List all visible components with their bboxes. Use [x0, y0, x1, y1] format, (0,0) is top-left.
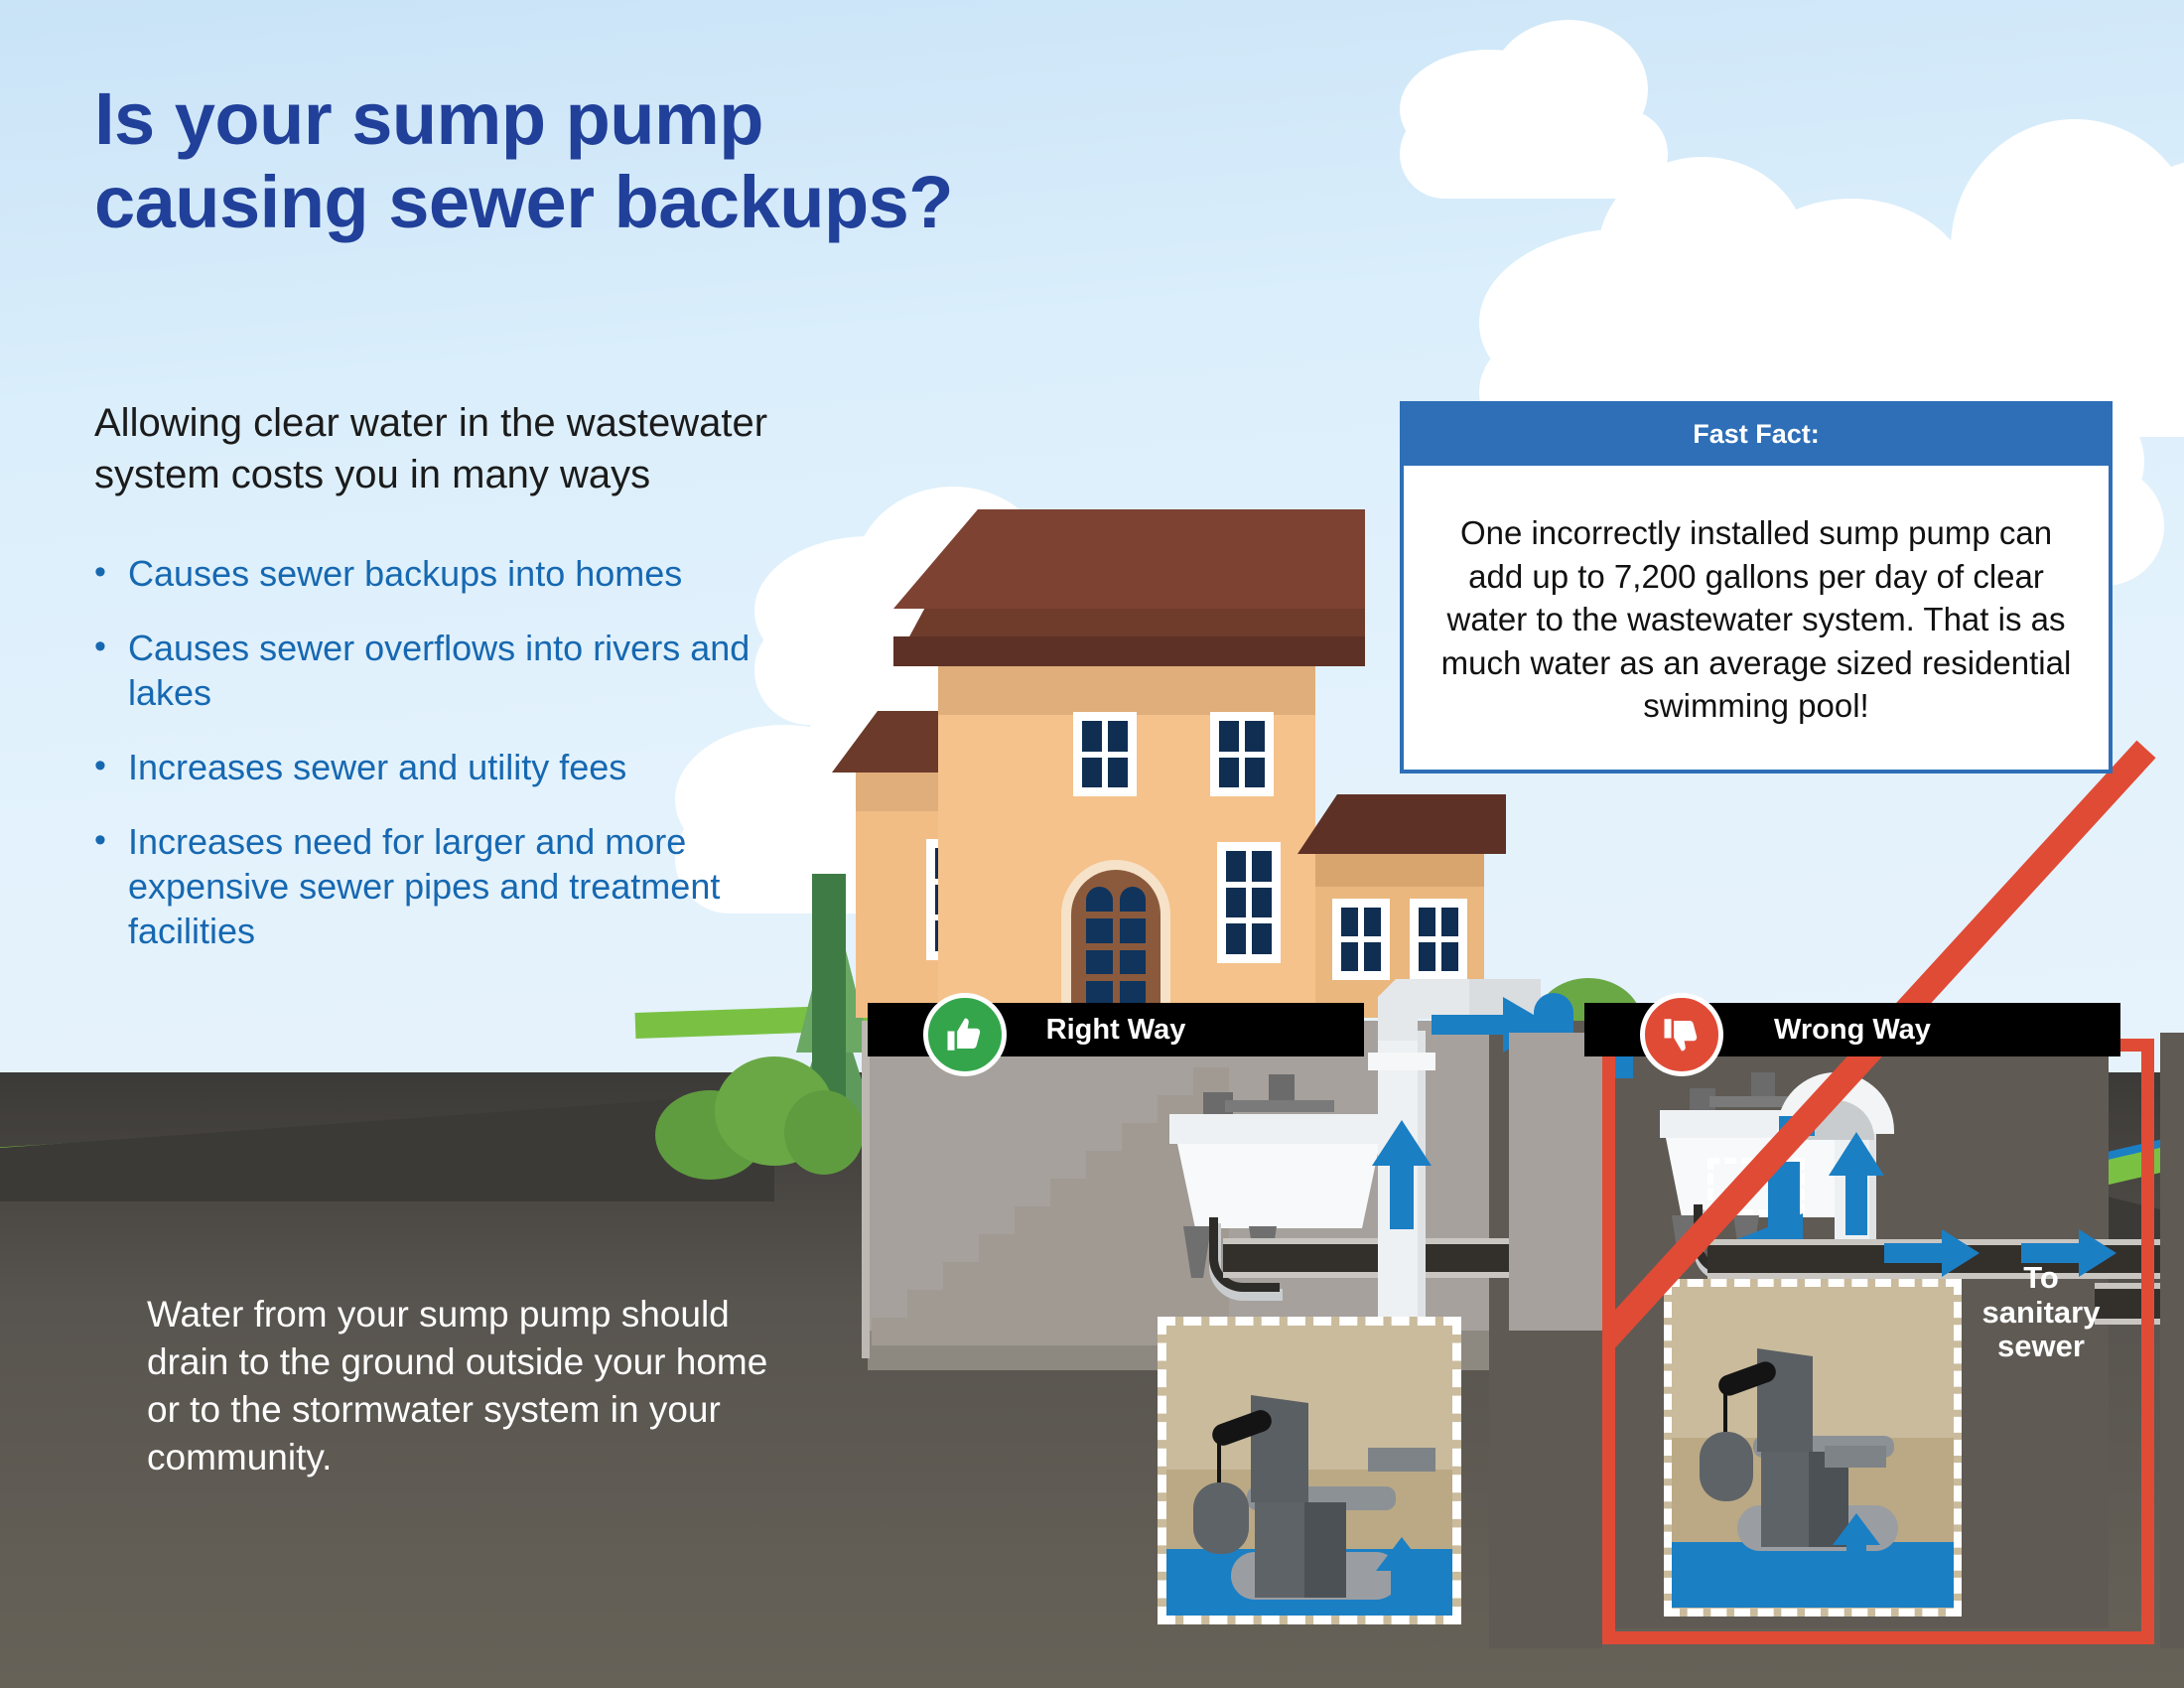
right-sump-intake-arrow — [1376, 1537, 1428, 1609]
bullet-marker-icon: • — [94, 626, 128, 715]
infographic-canvas: Right Way — [0, 0, 2184, 1688]
bullet-text: Increases need for larger and more expen… — [128, 819, 789, 953]
page-title: Is your sump pump causing sewer backups? — [94, 77, 1186, 245]
bullet-marker-icon: • — [94, 819, 128, 953]
wrong-way-label: Wrong Way — [1774, 1014, 1931, 1047]
right-laundry-sink — [1169, 1114, 1388, 1258]
bush-left — [655, 1051, 854, 1160]
fast-fact-box: Fast Fact: One incorrectly installed sum… — [1404, 405, 2109, 770]
basement-wall-left-edge — [862, 1021, 870, 1358]
bullet-text: Causes sewer overflows into rivers and l… — [128, 626, 789, 715]
right-discharge-pipe-collar — [1368, 1053, 1435, 1070]
prohibition-slash-clip-mask — [2160, 1033, 2184, 1648]
front-door-glass-grid — [1086, 887, 1146, 1006]
prohibition-slash-clip-mask-left-lower — [1489, 1331, 1602, 1648]
window-main-upper-left — [1073, 712, 1137, 796]
window-main-upper-right — [1210, 712, 1274, 796]
bottom-note-text: Water from your sump pump should drain t… — [147, 1291, 782, 1481]
window-right-wing-b — [1410, 899, 1467, 980]
right-pipe-foot — [1368, 1448, 1435, 1472]
bullet-marker-icon: • — [94, 745, 128, 789]
title-line-2: causing sewer backups? — [94, 161, 1186, 244]
bullet-marker-icon: • — [94, 551, 128, 596]
right-way-label: Right Way — [1046, 1014, 1186, 1047]
title-line-1: Is your sump pump — [94, 77, 1186, 161]
prohibition-slash-clip-mask-left — [1509, 1033, 1602, 1331]
list-item: • Increases sewer and utility fees — [94, 745, 789, 789]
thumbs-up-icon — [923, 993, 1007, 1076]
window-main-lower-right — [1217, 842, 1281, 963]
list-item: • Increases need for larger and more exp… — [94, 819, 789, 953]
lead-line-2: system costs you in many ways — [94, 449, 948, 500]
right-sewer-lateral — [1223, 1238, 1521, 1278]
lead-line-1: Allowing clear water in the wastewater — [94, 397, 948, 449]
fast-fact-heading: Fast Fact: — [1404, 405, 2109, 466]
cost-bullet-list: • Causes sewer backups into homes • Caus… — [94, 551, 789, 983]
thumbs-down-icon — [1640, 993, 1723, 1076]
wrong-way-prohibition-box-front — [1602, 1039, 2154, 1644]
list-item: • Causes sewer backups into homes — [94, 551, 789, 596]
list-item: • Causes sewer overflows into rivers and… — [94, 626, 789, 715]
lead-paragraph: Allowing clear water in the wastewater s… — [94, 397, 948, 500]
bullet-text: Causes sewer backups into homes — [128, 551, 789, 596]
bullet-text: Increases sewer and utility fees — [128, 745, 789, 789]
window-right-wing-a — [1332, 899, 1390, 980]
house-right-wing-band — [1315, 849, 1484, 887]
right-pipe-up-arrow-upper — [1372, 1120, 1432, 1229]
fast-fact-body: One incorrectly installed sump pump can … — [1404, 466, 2109, 770]
house-main-band — [938, 660, 1315, 715]
